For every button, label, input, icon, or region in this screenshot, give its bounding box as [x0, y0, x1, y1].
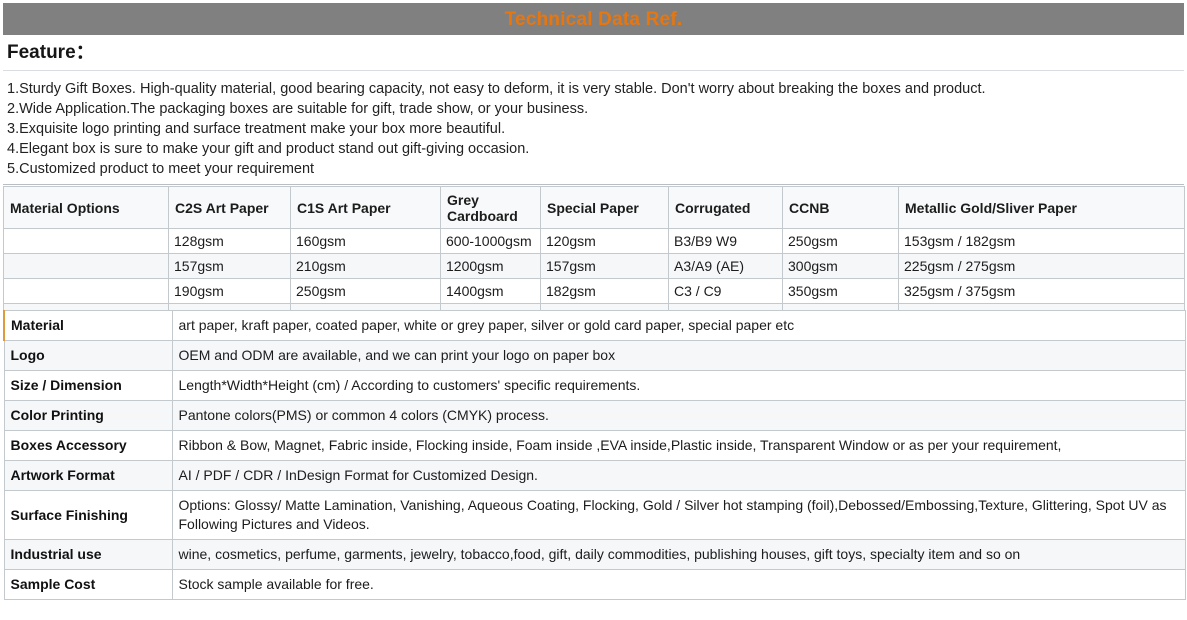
spec-value-color-printing: Pantone colors(PMS) or common 4 colors (…	[172, 401, 1185, 431]
col-header-grey-cardboard: Grey Cardboard	[441, 187, 541, 229]
feature-heading-row: Feature：	[3, 35, 1184, 71]
col-header-c2s-art-paper: C2S Art Paper	[169, 187, 291, 229]
material-options-table: Material Options C2S Art Paper C1S Art P…	[3, 186, 1185, 329]
spec-row-surface-finishing: Surface Finishing Options: Glossy/ Matte…	[4, 491, 1185, 540]
cell-c1s: 210gsm	[291, 254, 441, 279]
feature-line: 5.Customized product to meet your requir…	[7, 159, 1180, 179]
cell-corrugated: B3/B9 W9	[669, 229, 783, 254]
spec-value-artwork-format: AI / PDF / CDR / InDesign Format for Cus…	[172, 461, 1185, 491]
feature-line: 3.Exquisite logo printing and surface tr…	[7, 119, 1180, 139]
col-header-c1s-art-paper: C1S Art Paper	[291, 187, 441, 229]
spec-value-boxes-accessory: Ribbon & Bow, Magnet, Fabric inside, Flo…	[172, 431, 1185, 461]
cell-c2s: 128gsm	[169, 229, 291, 254]
page-title: Technical Data Ref.	[505, 10, 683, 29]
col-header-special-paper: Special Paper	[541, 187, 669, 229]
spec-key-industrial-use: Industrial use	[4, 540, 172, 570]
cell-grey: 600-1000gsm	[441, 229, 541, 254]
technical-data-sheet: Technical Data Ref. Feature： 1.Sturdy Gi…	[0, 0, 1187, 620]
cell-special: 120gsm	[541, 229, 669, 254]
cell-special: 157gsm	[541, 254, 669, 279]
spec-row-logo: Logo OEM and ODM are available, and we c…	[4, 341, 1185, 371]
cell-metallic: 225gsm / 275gsm	[899, 254, 1185, 279]
table-row: 128gsm 160gsm 600-1000gsm 120gsm B3/B9 W…	[4, 229, 1185, 254]
spec-value-surface-finishing: Options: Glossy/ Matte Lamination, Vanis…	[172, 491, 1185, 540]
cell-ccnb: 250gsm	[783, 229, 899, 254]
spec-row-industrial-use: Industrial use wine, cosmetics, perfume,…	[4, 540, 1185, 570]
cell-grey: 1400gsm	[441, 279, 541, 304]
spec-value-sample-cost: Stock sample available for free.	[172, 570, 1185, 600]
col-header-metallic-paper: Metallic Gold/Sliver Paper	[899, 187, 1185, 229]
spec-key-surface-finishing: Surface Finishing	[4, 491, 172, 540]
cell-corrugated: A3/A9 (AE)	[669, 254, 783, 279]
cell-material-options	[4, 254, 169, 279]
spec-key-logo: Logo	[4, 341, 172, 371]
title-bar: Technical Data Ref.	[3, 3, 1184, 35]
table-row: 190gsm 250gsm 1400gsm 182gsm C3 / C9 350…	[4, 279, 1185, 304]
col-header-ccnb: CCNB	[783, 187, 899, 229]
spec-row-material: Material art paper, kraft paper, coated …	[4, 311, 1185, 341]
spec-row-size-dimension: Size / Dimension Length*Width*Height (cm…	[4, 371, 1185, 401]
spec-key-boxes-accessory: Boxes Accessory	[4, 431, 172, 461]
cell-material-options	[4, 229, 169, 254]
specification-table: Material art paper, kraft paper, coated …	[3, 310, 1186, 600]
cell-ccnb: 350gsm	[783, 279, 899, 304]
spec-value-industrial-use: wine, cosmetics, perfume, garments, jewe…	[172, 540, 1185, 570]
cell-c2s: 190gsm	[169, 279, 291, 304]
spec-value-logo: OEM and ODM are available, and we can pr…	[172, 341, 1185, 371]
col-header-corrugated: Corrugated	[669, 187, 783, 229]
material-table-header-row: Material Options C2S Art Paper C1S Art P…	[4, 187, 1185, 229]
spec-row-color-printing: Color Printing Pantone colors(PMS) or co…	[4, 401, 1185, 431]
cell-c2s: 157gsm	[169, 254, 291, 279]
cell-metallic: 325gsm / 375gsm	[899, 279, 1185, 304]
feature-heading-label: Feature：	[7, 43, 95, 62]
cell-special: 182gsm	[541, 279, 669, 304]
feature-line: 2.Wide Application.The packaging boxes a…	[7, 99, 1180, 119]
cell-grey: 1200gsm	[441, 254, 541, 279]
cell-corrugated: C3 / C9	[669, 279, 783, 304]
spec-key-color-printing: Color Printing	[4, 401, 172, 431]
spec-key-sample-cost: Sample Cost	[4, 570, 172, 600]
cell-c1s: 160gsm	[291, 229, 441, 254]
cell-metallic: 153gsm / 182gsm	[899, 229, 1185, 254]
spec-row-sample-cost: Sample Cost Stock sample available for f…	[4, 570, 1185, 600]
col-header-material-options: Material Options	[4, 187, 169, 229]
cell-material-options	[4, 279, 169, 304]
cell-ccnb: 300gsm	[783, 254, 899, 279]
feature-list: 1.Sturdy Gift Boxes. High-quality materi…	[3, 71, 1184, 185]
feature-line: 4.Elegant box is sure to make your gift …	[7, 139, 1180, 159]
spec-value-size-dimension: Length*Width*Height (cm) / According to …	[172, 371, 1185, 401]
spec-value-material: art paper, kraft paper, coated paper, wh…	[172, 311, 1185, 341]
spec-row-boxes-accessory: Boxes Accessory Ribbon & Bow, Magnet, Fa…	[4, 431, 1185, 461]
feature-line: 1.Sturdy Gift Boxes. High-quality materi…	[7, 79, 1180, 99]
spec-key-artwork-format: Artwork Format	[4, 461, 172, 491]
cell-c1s: 250gsm	[291, 279, 441, 304]
table-row: 157gsm 210gsm 1200gsm 157gsm A3/A9 (AE) …	[4, 254, 1185, 279]
spec-key-size-dimension: Size / Dimension	[4, 371, 172, 401]
spec-key-material: Material	[4, 311, 172, 341]
spec-row-artwork-format: Artwork Format AI / PDF / CDR / InDesign…	[4, 461, 1185, 491]
